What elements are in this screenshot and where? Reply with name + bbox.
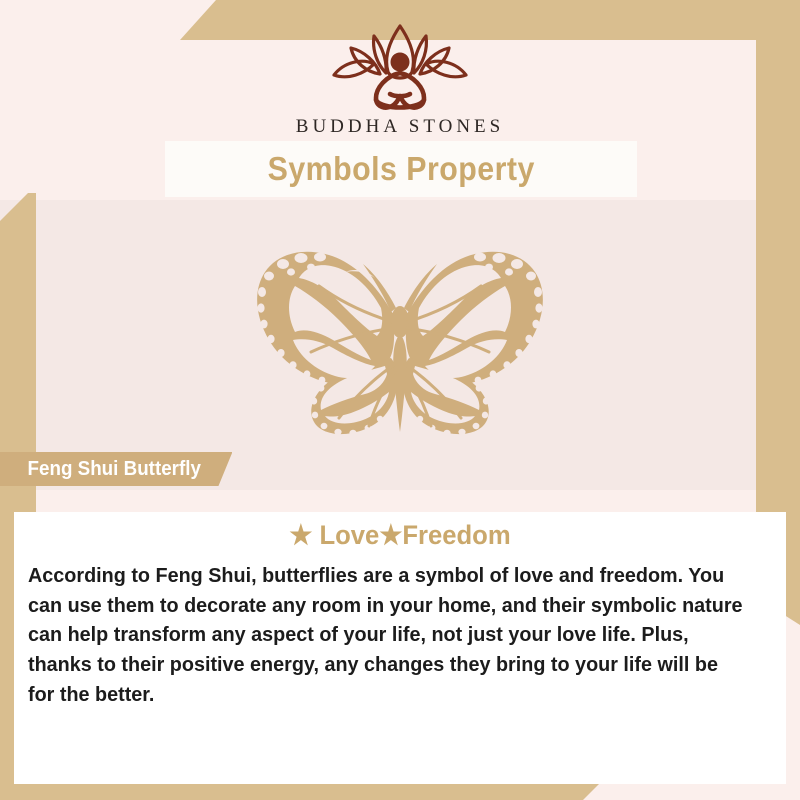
description-paragraph: According to Feng Shui, butterflies are … <box>28 561 744 710</box>
butterfly-icon <box>225 236 575 446</box>
brand-name: BUDDHA STONES <box>0 116 800 138</box>
butterfly-illustration <box>225 236 575 446</box>
title-banner: Symbols Property <box>165 141 637 197</box>
description-card: ★ Love★Freedom According to Feng Shui, b… <box>14 512 786 784</box>
background-gap <box>0 490 800 512</box>
product-info-poster: BUDDHA STONES Symbols Property <box>0 0 800 800</box>
love-freedom-headline: ★ Love★Freedom <box>33 520 766 551</box>
page-title: Symbols Property <box>267 150 534 188</box>
feng-shui-butterfly-label: Feng Shui Butterfly <box>0 452 232 486</box>
brand-logo: BUDDHA STONES <box>0 18 800 138</box>
label-text: Feng Shui Butterfly <box>28 458 201 481</box>
lotus-meditation-icon <box>310 18 490 114</box>
